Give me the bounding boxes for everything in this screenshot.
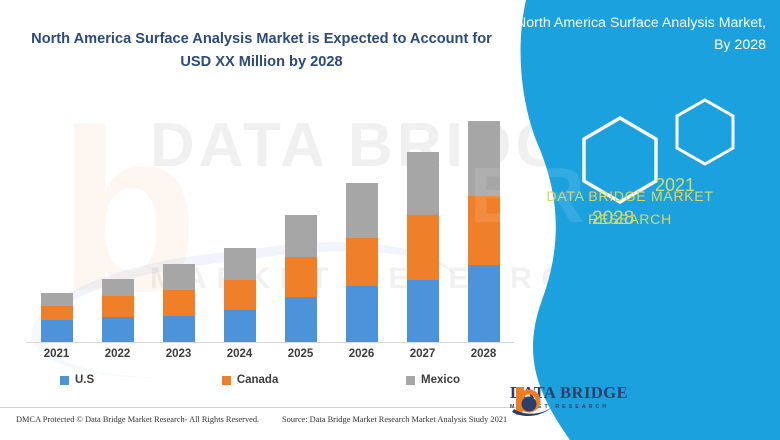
- bar-segment-2023-Canada: [163, 290, 195, 316]
- legend-item-Canada[interactable]: Canada: [222, 374, 279, 386]
- bar-2021: [41, 293, 73, 342]
- legend-swatch-icon: [406, 376, 415, 385]
- bar-segment-2024-Canada: [224, 280, 256, 310]
- right-panel: BR North America Surface Analysis Market…: [480, 0, 780, 440]
- bar-segment-2022-Mexico: [102, 279, 134, 296]
- legend-label: Mexico: [421, 374, 460, 386]
- panel-title: North America Surface Analysis Market, B…: [516, 12, 766, 56]
- bar-segment-2026-US: [346, 286, 378, 342]
- infographic-canvas: b DATA BRIDGE MARKET RESEARCH North Amer…: [0, 0, 780, 440]
- data-bridge-logo: DATA BRIDGE MARKET RESEARCH: [510, 385, 628, 410]
- footer-divider: [0, 407, 520, 408]
- x-label-2026: 2026: [346, 348, 378, 360]
- footer-copyright: DMCA Protected © Data Bridge Market Rese…: [16, 415, 259, 424]
- bar-segment-2023-US: [163, 316, 195, 342]
- bar-segment-2025-Mexico: [285, 215, 317, 257]
- legend-item-US[interactable]: U.S: [60, 374, 94, 386]
- bar-segment-2026-Mexico: [346, 183, 378, 238]
- bar-segment-2022-Canada: [102, 296, 134, 317]
- bar-segment-2023-Mexico: [163, 264, 195, 290]
- bar-2023: [163, 264, 195, 342]
- bar-segment-2024-US: [224, 310, 256, 342]
- chart-bars: [26, 100, 514, 342]
- bar-segment-2027-Mexico: [407, 152, 439, 215]
- bar-2026: [346, 183, 378, 342]
- bar-segment-2024-Mexico: [224, 248, 256, 280]
- bar-2024: [224, 248, 256, 342]
- bar-2025: [285, 215, 317, 342]
- bar-segment-2025-US: [285, 297, 317, 342]
- hexagon-group: 2028 2021: [550, 78, 750, 198]
- bar-segment-2025-Canada: [285, 257, 317, 297]
- x-label-2027: 2027: [407, 348, 439, 360]
- panel-brand-text: DATA BRIDGE MARKET RESEARCH: [510, 186, 750, 231]
- hexagon-2021-outline: [677, 100, 733, 164]
- legend-item-Mexico[interactable]: Mexico: [406, 374, 460, 386]
- page-title: North America Surface Analysis Market is…: [14, 28, 509, 73]
- bar-segment-2027-US: [407, 280, 439, 342]
- bar-2022: [102, 279, 134, 342]
- bar-segment-2021-Canada: [41, 306, 73, 320]
- bar-2027: [407, 152, 439, 342]
- x-label-2025: 2025: [285, 348, 317, 360]
- x-label-2022: 2022: [102, 348, 134, 360]
- bar-segment-2027-Canada: [407, 215, 439, 280]
- logo-mark-icon: [510, 385, 554, 419]
- legend-label: U.S: [75, 374, 94, 386]
- legend-swatch-icon: [222, 376, 231, 385]
- chart-legend: U.SCanadaMexico: [60, 374, 460, 386]
- bar-segment-2021-Mexico: [41, 293, 73, 306]
- bar-segment-2021-US: [41, 320, 73, 342]
- legend-label: Canada: [237, 374, 279, 386]
- x-label-2021: 2021: [41, 348, 73, 360]
- legend-swatch-icon: [60, 376, 69, 385]
- x-label-2024: 2024: [224, 348, 256, 360]
- bar-segment-2022-US: [102, 317, 134, 342]
- footer-source: Source: Data Bridge Market Research Mark…: [282, 415, 507, 424]
- bar-segment-2026-Canada: [346, 238, 378, 286]
- chart-baseline: [26, 342, 514, 343]
- x-label-2023: 2023: [163, 348, 195, 360]
- chart-x-axis-labels: 20212022202320242025202620272028: [26, 348, 514, 360]
